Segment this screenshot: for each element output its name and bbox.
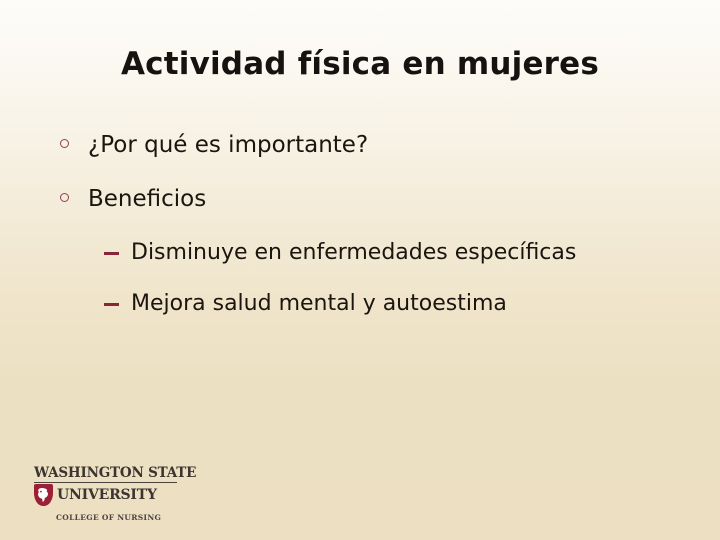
bullet-item-level1: Beneficios bbox=[58, 184, 658, 214]
logo-line-college-of-nursing: COLLEGE OF NURSING bbox=[56, 513, 190, 522]
hollow-circle-bullet-icon bbox=[60, 193, 69, 202]
presentation-slide: Actividad física en mujeres ¿Por qué es … bbox=[0, 0, 720, 540]
dash-bullet-icon bbox=[104, 303, 119, 306]
slide-title: Actividad física en mujeres bbox=[0, 46, 720, 82]
dash-bullet-icon bbox=[104, 252, 119, 255]
wsu-college-of-nursing-logo: WASHINGTON STATE UNIVERSITY COLLEGE OF N… bbox=[30, 466, 190, 522]
logo-line-washington-state: WASHINGTON STATE bbox=[30, 466, 190, 481]
bullet-text: Beneficios bbox=[88, 186, 206, 212]
slide-body-content: ¿Por qué es importante? Beneficios Dismi… bbox=[58, 130, 658, 340]
bullet-text: ¿Por qué es importante? bbox=[88, 132, 368, 158]
bullet-item-level1: ¿Por qué es importante? bbox=[58, 130, 658, 160]
logo-university-row: UNIVERSITY bbox=[34, 484, 190, 506]
wsu-cougar-shield-icon bbox=[34, 484, 53, 506]
hollow-circle-bullet-icon bbox=[60, 139, 69, 148]
bullet-item-level2: Mejora salud mental y autoestima bbox=[58, 289, 658, 318]
logo-line-university: UNIVERSITY bbox=[57, 487, 157, 503]
bullet-item-level2: Disminuye en enfermedades específicas bbox=[58, 238, 658, 267]
bullet-text: Mejora salud mental y autoestima bbox=[131, 291, 507, 316]
logo-divider-rule bbox=[34, 482, 177, 483]
bullet-text: Disminuye en enfermedades específicas bbox=[131, 240, 576, 265]
